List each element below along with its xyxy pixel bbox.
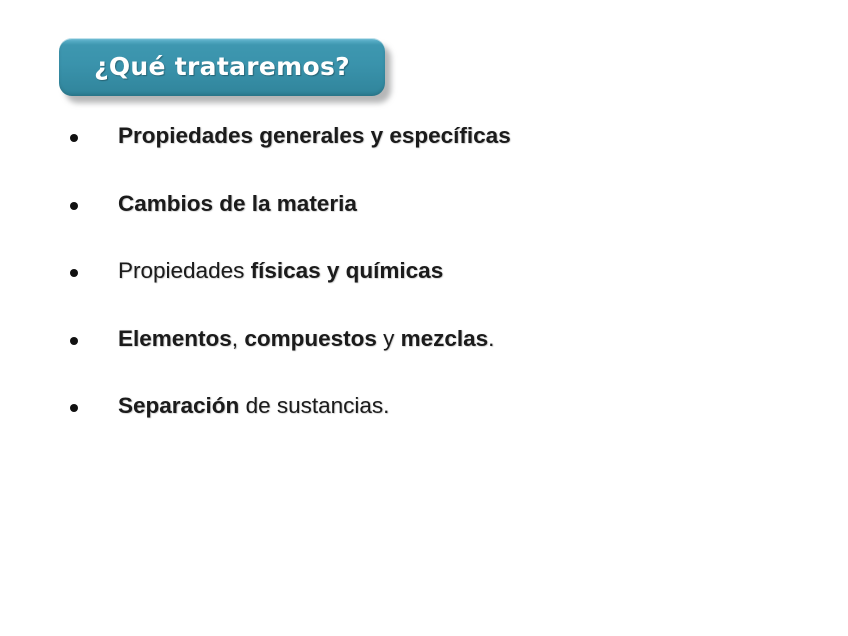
list-item-text: Propiedades generales y específicas [118, 122, 511, 150]
list-item-text: Separación de sustancias. [118, 392, 389, 420]
page-title: ¿Qué trataremos? [94, 54, 350, 79]
text-run-regular: de sustancias. [239, 393, 389, 418]
list-item-text: Propiedades físicas y químicas [118, 257, 443, 285]
list-item: Separación de sustancias. [0, 392, 848, 460]
text-run-bold: Cambios de la materia [118, 191, 357, 216]
slide-title-banner: ¿Qué trataremos? [59, 38, 385, 96]
text-run-regular: y [377, 326, 401, 351]
list-item: Cambios de la materia [0, 190, 848, 258]
text-run-regular: . [488, 326, 494, 351]
list-item: Elementos, compuestos y mezclas. [0, 325, 848, 393]
list-item: Propiedades generales y específicas [0, 122, 848, 190]
bullet-dot-icon [70, 134, 78, 142]
text-run-regular: Propiedades [118, 258, 251, 283]
bullet-dot-icon [70, 337, 78, 345]
text-run-bold: Elementos [118, 326, 232, 351]
text-run-bold: compuestos [244, 326, 377, 351]
title-banner-pill: ¿Qué trataremos? [59, 38, 385, 96]
text-run-bold: mezclas [401, 326, 489, 351]
bullet-dot-icon [70, 269, 78, 277]
bullet-list: Propiedades generales y específicas Camb… [0, 122, 848, 460]
text-run-regular: , [232, 326, 245, 351]
bullet-dot-icon [70, 202, 78, 210]
list-item-text: Cambios de la materia [118, 190, 357, 218]
text-run-bold: Propiedades generales y específicas [118, 123, 511, 148]
text-run-bold: físicas y químicas [251, 258, 444, 283]
slide-canvas: ¿Qué trataremos? Propiedades generales y… [0, 0, 848, 636]
list-item-text: Elementos, compuestos y mezclas. [118, 325, 494, 353]
list-item: Propiedades físicas y químicas [0, 257, 848, 325]
text-run-bold: Separación [118, 393, 239, 418]
bullet-dot-icon [70, 404, 78, 412]
